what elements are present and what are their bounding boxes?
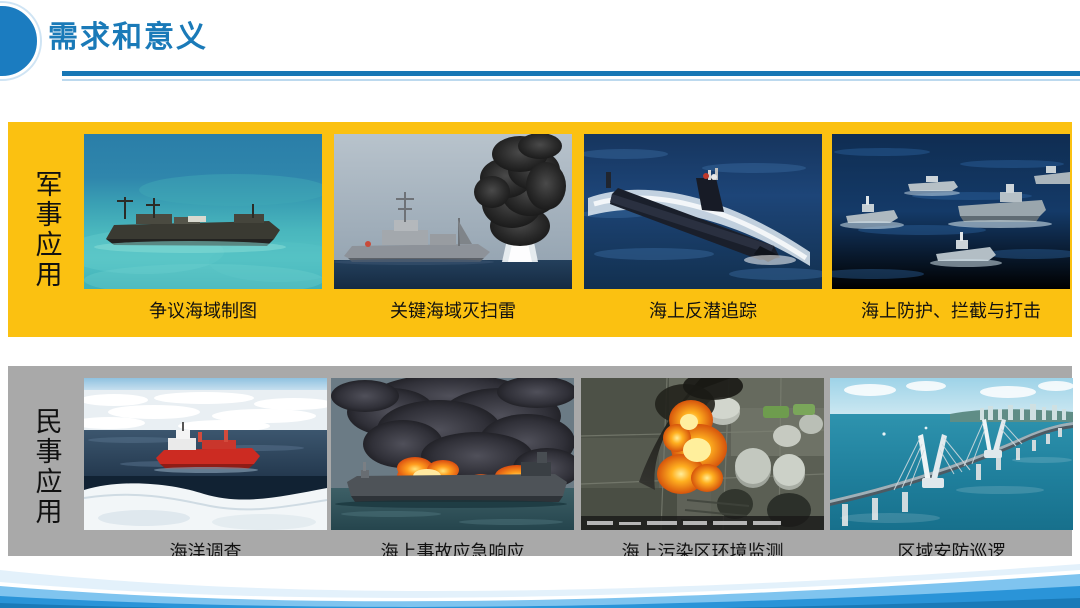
card-maritime-accident-response[interactable]: 海上事故应急响应 — [331, 378, 574, 530]
carrier-battle-group-image — [832, 134, 1070, 289]
panel-military: 军事应用 — [8, 122, 1072, 337]
panel-military-label: 军事应用 — [8, 122, 84, 337]
card-ocean-survey[interactable]: 海洋调查 — [84, 378, 327, 530]
polar-icebreaker-image — [84, 378, 327, 530]
header-divider-secondary — [62, 79, 1080, 81]
card-area-security-patrol[interactable]: 区域安防巡逻 — [830, 378, 1073, 530]
footer-wave-decoration — [0, 556, 1080, 608]
page-title: 需求和意义 — [48, 12, 208, 56]
refinery-fire-aerial-image — [581, 378, 824, 530]
panel-civil-grid: 海洋调查 — [84, 366, 1072, 568]
panel-civil: 民事应用 — [8, 366, 1072, 568]
caption-mine-clearing: 关键海域灭扫雷 — [334, 297, 572, 323]
caption-maritime-defense-strike: 海上防护、拦截与打击 — [832, 297, 1070, 323]
header-circle-decoration — [0, 3, 40, 79]
burning-tanker-image — [331, 378, 574, 530]
slide-header: 需求和意义 — [0, 0, 1080, 92]
panel-civil-label: 民事应用 — [8, 366, 84, 568]
card-anti-submarine-tracking[interactable]: 海上反潜追踪 — [584, 134, 822, 289]
card-disputed-waters-mapping[interactable]: 争议海域制图 — [84, 134, 322, 289]
panel-military-grid: 争议海域制图 — [84, 122, 1072, 337]
card-pollution-monitoring[interactable]: 海上污染区环境监测 — [581, 378, 824, 530]
caption-disputed-waters-mapping: 争议海域制图 — [84, 297, 322, 323]
slide: 需求和意义 军事应用 — [0, 0, 1080, 608]
card-mine-clearing[interactable]: 关键海域灭扫雷 — [334, 134, 572, 289]
surfaced-submarine-image — [584, 134, 822, 289]
header-divider-primary — [62, 71, 1080, 76]
minesweeper-mine-explosion-image — [334, 134, 572, 289]
sea-crossing-bridge-image — [830, 378, 1073, 530]
caption-anti-submarine-tracking: 海上反潜追踪 — [584, 297, 822, 323]
card-maritime-defense-strike[interactable]: 海上防护、拦截与打击 — [832, 134, 1070, 289]
grounded-ship-on-reef-image — [84, 134, 322, 289]
